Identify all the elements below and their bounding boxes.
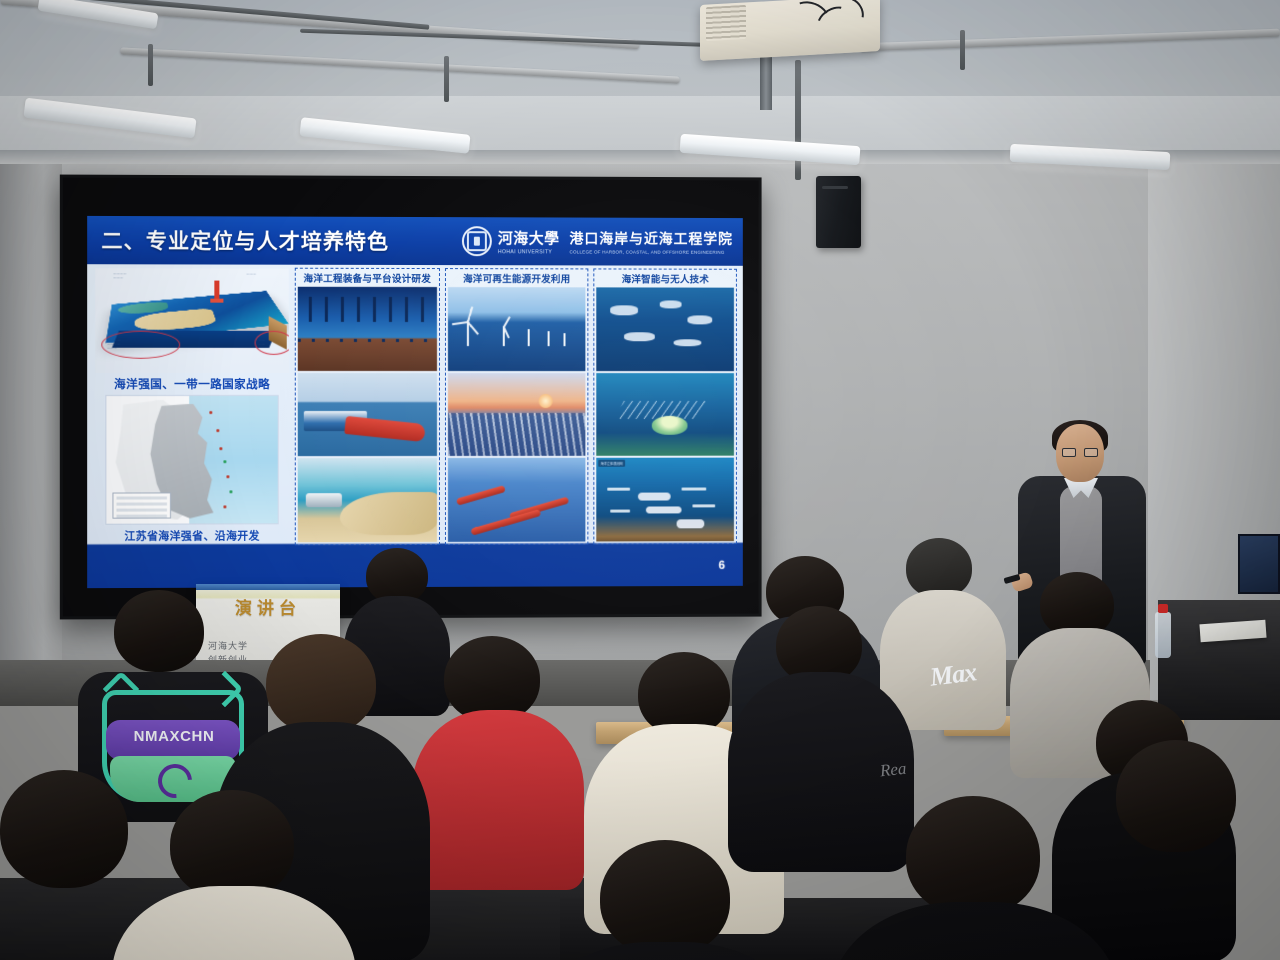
hoodie-script-text: Rea [879, 759, 907, 782]
college-name-en: COLLEGE OF HARBOR, COASTAL, AND OFFSHORE… [569, 249, 732, 254]
presentation-slide: 二、专业定位与人才培养特色 河海大學 HOHAI UNIVERSITY 港口海岸… [87, 216, 743, 588]
theme-column-box: 海洋可再生能源开发利用 [445, 268, 589, 545]
lectern-top-edge [196, 584, 340, 590]
diagram-annotation: — — — [247, 273, 256, 277]
left-diagram-caption: 海洋强国、一带一路国家战略 [95, 376, 289, 392]
theme-column-equipment: 海洋工程装备与平台设计研发 [295, 268, 440, 546]
left-map-caption: 江苏省海洋强省、沿海开发 [95, 527, 289, 544]
tile-wave-energy [448, 458, 586, 542]
slide-page-number: 6 [718, 558, 725, 572]
slide-left-column: — — — —— — — — — — — — — —— — — —— — — —… [87, 264, 295, 546]
map-city-marker [223, 506, 226, 509]
av-cabinet [1158, 600, 1280, 720]
theme-column-box: 海洋智能与无人技术 [594, 268, 737, 544]
ceiling-hanger [960, 30, 965, 70]
jiangsu-coastal-map [105, 395, 278, 525]
wall-conduit [795, 60, 801, 180]
lectern-label: 演讲台 [196, 594, 340, 619]
hohai-seal-icon [462, 226, 492, 256]
map-legend [112, 492, 171, 518]
tile-sonar-array [597, 373, 734, 456]
wall-speaker [816, 176, 861, 248]
college-name-cn: 港口海岸与近海工程学院 [569, 228, 732, 248]
map-port-marker [223, 460, 226, 463]
diagram-annotation: — —— — [259, 339, 265, 347]
slide-title: 二、专业定位与人才培养特色 [101, 225, 389, 256]
column-heading: 海洋工程装备与平台设计研发 [298, 271, 437, 285]
tile-floating-solar [448, 373, 586, 457]
map-city-marker [226, 475, 229, 478]
diagram-annotation: — — — —— — — [113, 272, 126, 280]
projector-mount [760, 52, 772, 110]
university-name-en: HOHAI UNIVERSITY [498, 249, 560, 255]
ceiling-hanger [444, 56, 449, 102]
av-monitor[interactable] [1238, 534, 1280, 594]
map-city-marker [220, 447, 223, 450]
oil-rig-icon [214, 281, 219, 301]
column-heading: 海洋可再生能源开发利用 [448, 271, 586, 285]
theme-column-intelligent: 海洋智能与无人技术 [594, 268, 737, 544]
university-branding: 河海大學 HOHAI UNIVERSITY 港口海岸与近海工程学院 COLLEG… [462, 226, 733, 257]
ocean-block-diagram: — — — —— — — — — — — — — —— — — —— — — —… [95, 268, 289, 373]
tile-land-reclamation [298, 458, 437, 542]
diagram-annotation: — — — —— — — —— — — [107, 339, 120, 351]
lecture-hall-scene: 二、专业定位与人才培养特色 河海大學 HOHAI UNIVERSITY 港口海岸… [0, 0, 1280, 960]
map-city-marker [216, 429, 219, 432]
slide-header: 二、专业定位与人才培养特色 河海大學 HOHAI UNIVERSITY 港口海岸… [87, 216, 743, 266]
tile-dredger-vessel [298, 373, 437, 457]
theme-column-box: 海洋工程装备与平台设计研发 [295, 268, 440, 546]
tile-inline-tag: 海洋立体观测网 [599, 460, 625, 467]
slide-theme-columns: 海洋工程装备与平台设计研发 海洋可再生能源开发利用 [295, 265, 743, 546]
backpack-text: NMAXCHN [126, 728, 222, 745]
university-name-cn: 河海大學 [498, 227, 560, 248]
tile-offshore-wind [448, 287, 586, 371]
tile-underwater-vehicles [597, 287, 734, 370]
theme-column-renewable: 海洋可再生能源开发利用 [445, 268, 589, 545]
tile-offshore-platform [298, 287, 437, 371]
projector-vents [706, 5, 746, 41]
ceiling-hanger [148, 44, 153, 86]
jacket-script-text: Max [928, 657, 977, 692]
slide-body: — — — —— — — — — — — — — —— — — —— — — —… [87, 264, 743, 546]
glasses-icon [1062, 448, 1098, 457]
column-heading: 海洋智能与无人技术 [597, 271, 734, 285]
tile-observation-network: 海洋立体观测网 [597, 458, 734, 542]
